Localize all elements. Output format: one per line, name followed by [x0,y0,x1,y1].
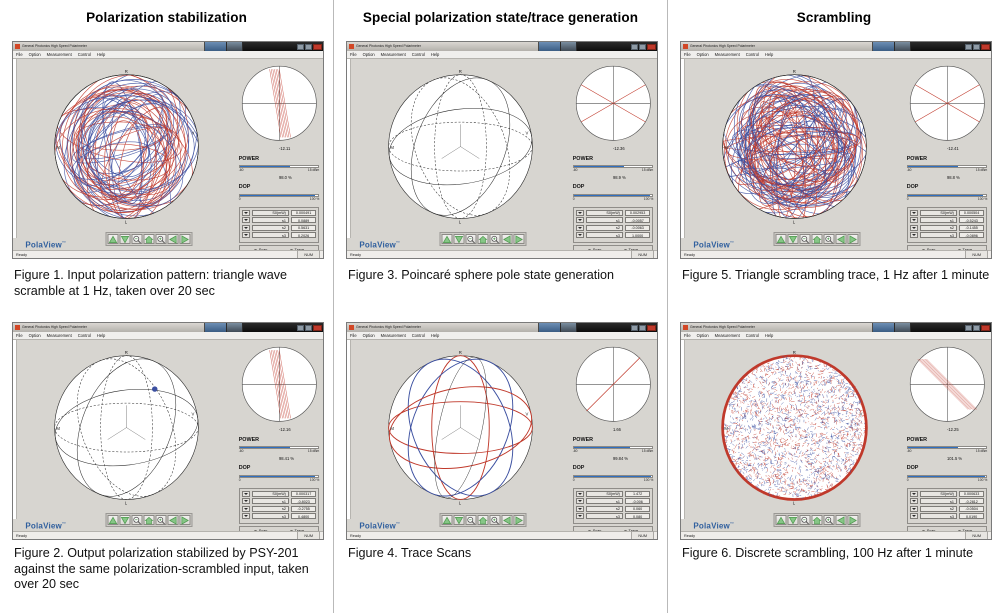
dop-scale: 0 100 % [573,478,654,482]
arrow-left-icon[interactable] [502,234,513,244]
taskbar-thumb-1[interactable] [873,42,895,51]
stokes-row: S0(mW) 0.000633 [910,491,985,497]
stokes-label-3: s3 [586,513,623,519]
poincare-sphere-display[interactable]: R L M V [686,61,903,232]
menu-item-file[interactable]: File [16,332,23,340]
zoom-in-icon[interactable] [490,234,501,244]
power-min: -60 [239,168,244,172]
stokes-label-1: s1 [586,498,623,504]
view-toolbar [440,232,527,246]
arrow-up-icon[interactable] [442,515,453,525]
stokes-value-0: 0.000633 [959,491,984,497]
stokes-select-button-0[interactable] [910,210,918,216]
polaview-logo-text: PolaView [693,241,730,250]
num-lock-indicator: NUM [965,531,988,541]
arrow-left-icon[interactable] [836,515,847,525]
stokes-select-button-2[interactable] [910,506,918,512]
dop-bar [907,194,988,197]
power-meter: POWER 1.66 -60 15 dBm [573,428,654,454]
control-panel: POWER 1.66 -60 15 dBm DOP 99.84 % [573,344,654,523]
arrow-down-icon[interactable] [788,515,799,525]
dop-min: 0 [239,478,241,482]
dop-label: DOP [907,465,919,471]
vertical-scrollbar[interactable] [681,340,685,519]
home-view-icon[interactable] [812,234,823,244]
arrow-up-icon[interactable] [776,234,787,244]
stokes-parameters-panel: S0(mW) 0.000491 s1 0.0889 s2 0.5631 s3 0… [239,207,320,243]
figure-cell-1: General Photonics High Speed Polarimeter… [12,41,324,259]
stokes-select-button-1[interactable] [910,498,918,504]
window-titlebar[interactable]: General Photonics High Speed Polarimeter [347,42,657,51]
stokes-value-1: -0.2812 [959,498,984,504]
power-min: -60 [573,168,578,172]
stokes-select-button-1[interactable] [910,217,918,223]
status-bar: Ready NUM [681,250,991,258]
stokes-value-2: -0.2755 [291,506,316,512]
power-scale: -60 15 dBm [573,168,654,172]
window-titlebar[interactable]: General Photonics High Speed Polarimeter [681,42,991,51]
stokes-label-1: s1 [920,217,957,223]
taskbar-thumb-2[interactable] [895,42,911,51]
meters-group: POWER -12.36 -60 15 dBm DOP 98.9 % [573,147,654,204]
taskbar-thumb-2[interactable] [561,323,577,332]
polaview-logo-text: PolaView [359,522,396,531]
stokes-label-3: s3 [920,232,957,238]
stokes-row: s3 1.0000 [576,232,651,238]
zoom-out-icon[interactable] [800,515,811,525]
poincare-sphere-display[interactable]: R L M V [352,61,569,232]
power-label: POWER [573,437,593,443]
arrow-left-icon[interactable] [168,515,179,525]
polaview-logo: PolaView™ [25,240,66,250]
menu-item-control[interactable]: Control [412,332,425,340]
menu-item-help[interactable]: Help [97,332,105,340]
taskbar-thumb-1[interactable] [205,42,227,51]
stokes-select-button-3[interactable] [576,513,584,519]
arrow-down-icon[interactable] [788,234,799,244]
stokes-row: s2 -0.0504 [910,506,985,512]
power-scale: -60 15 dBm [239,449,320,453]
arrow-right-icon[interactable] [514,515,525,525]
figure-caption-5: Figure 5. Triangle scrambling trace, 1 H… [682,268,990,284]
stokes-select-button-0[interactable] [576,491,584,497]
status-message: Ready [350,251,361,259]
window-buttons [630,44,656,50]
zoom-in-icon[interactable] [156,234,167,244]
menu-bar: FileOptionMeasurementControlHelp [13,51,323,59]
minimize-button[interactable] [965,325,972,331]
power-max: 15 dBm [642,449,653,453]
vertical-scrollbar[interactable] [681,59,685,238]
stokes-label-2: s2 [586,506,623,512]
close-icon[interactable] [981,325,990,331]
home-view-icon[interactable] [478,234,489,244]
dop-value: 98.0 % [279,175,292,180]
window-titlebar[interactable]: General Photonics High Speed Polarimeter [347,323,657,332]
power-min: -60 [573,449,578,453]
power-value: -12.25 [947,427,959,432]
stokes-select-button-0[interactable] [576,210,584,216]
zoom-out-icon[interactable] [132,234,143,244]
polaview-logo: PolaView™ [359,521,400,531]
svg-text:M: M [724,426,728,431]
power-label: POWER [573,156,593,162]
polaview-logo-text: PolaView [359,241,396,250]
dop-min: 0 [907,478,909,482]
dop-meter: DOP 98.41 % 0 100 % [239,456,320,482]
zoom-in-icon[interactable] [156,515,167,525]
home-view-icon[interactable] [812,515,823,525]
menu-bar: FileOptionMeasurementControlHelp [681,332,991,340]
dop-bar-fill [240,195,315,196]
menu-item-measurement[interactable]: Measurement [381,332,406,340]
menu-item-measurement[interactable]: Measurement [715,51,740,59]
menu-item-option[interactable]: Option [29,51,41,59]
stokes-select-button-1[interactable] [576,217,584,223]
poincare-sphere-display[interactable]: R L M V [686,342,903,513]
zoom-in-icon[interactable] [490,515,501,525]
arrow-left-icon[interactable] [836,234,847,244]
arrow-down-icon[interactable] [120,234,131,244]
stokes-value-0: 0.002953 [625,210,650,216]
window-buttons [296,325,322,331]
menu-item-control[interactable]: Control [746,51,759,59]
taskbar-thumb-2[interactable] [227,42,243,51]
view-toolbar [106,232,193,246]
stokes-label-1: s1 [252,217,289,223]
window-titlebar[interactable]: General Photonics High Speed Polarimeter [681,323,991,332]
arrow-left-icon[interactable] [502,515,513,525]
stokes-row: s1 -0.2812 [910,498,985,504]
control-panel: POWER -12.36 -60 15 dBm DOP 98.9 % [573,63,654,242]
stokes-label-2: s2 [920,506,957,512]
dop-bar [907,475,988,478]
taskbar-thumb-1[interactable] [539,42,561,51]
power-meter: POWER -12.16 -60 15 dBm [239,428,320,454]
svg-text:R: R [792,350,795,355]
window-buttons [964,325,990,331]
stokes-select-button-1[interactable] [242,498,250,504]
arrow-left-icon[interactable] [168,234,179,244]
menu-item-help[interactable]: Help [765,51,773,59]
arrow-down-icon[interactable] [454,234,465,244]
dop-label: DOP [239,465,251,471]
dop-max: 100 % [978,197,987,201]
stokes-select-button-1[interactable] [242,217,250,223]
zoom-out-icon[interactable] [466,234,477,244]
arrow-right-icon[interactable] [848,234,859,244]
stokes-select-button-3[interactable] [242,232,250,238]
column-heading-special-states: Special polarization state/trace generat… [334,10,667,25]
workspace: R L M V PolaView™ POWER -12.41 [681,59,991,258]
status-bar: Ready NUM [347,250,657,258]
arrow-up-icon[interactable] [776,515,787,525]
power-bar-fill [908,447,958,448]
power-label: POWER [239,437,259,443]
vertical-scrollbar[interactable] [13,340,17,519]
menu-item-option[interactable]: Option [697,332,709,340]
taskbar-thumb-2[interactable] [895,323,911,332]
maximize-button[interactable] [305,325,312,331]
close-icon[interactable] [647,325,656,331]
stokes-value-3: -0.0896 [959,232,984,238]
stokes-select-button-3[interactable] [242,513,250,519]
stokes-select-button-0[interactable] [910,491,918,497]
stokes-select-button-1[interactable] [576,498,584,504]
menu-item-measurement[interactable]: Measurement [47,332,72,340]
polarization-ellipse-display [907,63,988,144]
app-logo-icon [15,325,20,330]
status-message: Ready [16,251,27,259]
power-label: POWER [907,437,927,443]
trademark-icon: ™ [730,240,734,245]
stokes-value-3: 1.0000 [625,232,650,238]
menu-item-file[interactable]: File [350,51,357,59]
vertical-scrollbar[interactable] [347,340,351,519]
poincare-sphere-display[interactable]: R L M V [18,61,235,232]
window-title-tab[interactable]: General Photonics High Speed Polarimeter [13,323,205,332]
arrow-down-icon[interactable] [120,515,131,525]
power-bar [907,165,988,168]
stokes-select-button-3[interactable] [910,513,918,519]
zoom-in-icon[interactable] [824,234,835,244]
menu-item-option[interactable]: Option [29,332,41,340]
polarization-ellipse-display [907,344,988,425]
vertical-scrollbar[interactable] [347,59,351,238]
minimize-button[interactable] [297,325,304,331]
stokes-row: s3 0.0190 [910,513,985,519]
stokes-value-2: -0.1455 [959,225,984,231]
polaview-window: General Photonics High Speed Polarimeter… [12,41,324,259]
stokes-value-1: -0.0057 [625,217,650,223]
figure-caption-6: Figure 6. Discrete scrambling, 100 Hz af… [682,546,994,562]
menu-item-option[interactable]: Option [363,51,375,59]
stokes-parameters-panel: S0(mW) 0.000317 s1 -0.8023 s2 -0.2755 s3… [239,488,320,524]
menu-item-help[interactable]: Help [97,51,105,59]
arrow-right-icon[interactable] [180,234,191,244]
control-panel: POWER -12.41 -60 15 dBm DOP 98.8 % [907,63,988,242]
poincare-sphere-display[interactable]: R L M V [18,342,235,513]
power-scale: -60 15 dBm [239,168,320,172]
figure-cell-5: General Photonics High Speed Polarimeter… [680,41,992,259]
vertical-scrollbar[interactable] [13,59,17,238]
dop-min: 0 [573,478,575,482]
stokes-label-3: s3 [252,513,289,519]
close-icon[interactable] [647,44,656,50]
stokes-label-0: S0(mW) [252,491,289,497]
window-title-tab[interactable]: General Photonics High Speed Polarimeter [681,323,873,332]
poincare-sphere-display[interactable]: R L M V [352,342,569,513]
dop-min: 0 [907,197,909,201]
maximize-button[interactable] [305,44,312,50]
stokes-value-3: 0.0190 [959,513,984,519]
num-lock-indicator: NUM [297,531,320,541]
meters-group: POWER -12.25 -60 15 dBm DOP 101.5 % [907,428,988,485]
dop-value: 98.9 % [613,175,626,180]
trademark-icon: ™ [730,521,734,526]
stokes-value-3: 0.2026 [291,232,316,238]
taskbar-thumb-1[interactable] [539,323,561,332]
meters-group: POWER 1.66 -60 15 dBm DOP 99.84 % [573,428,654,485]
window-title-tab[interactable]: General Photonics High Speed Polarimeter [13,42,205,51]
window-buttons [296,44,322,50]
stokes-row: s2 -0.0063 [576,225,651,231]
dop-value: 101.5 % [947,456,962,461]
minimize-button[interactable] [631,325,638,331]
polaview-window: General Photonics High Speed Polarimeter… [346,41,658,259]
stokes-parameters-panel: S0(mW) 0.002953 s1 -0.0057 s2 -0.0063 s3… [573,207,654,243]
menu-item-measurement[interactable]: Measurement [381,51,406,59]
maximize-button[interactable] [973,325,980,331]
stokes-select-button-2[interactable] [242,225,250,231]
zoom-out-icon[interactable] [132,515,143,525]
menu-item-measurement[interactable]: Measurement [715,332,740,340]
polaview-logo: PolaView™ [25,521,66,531]
dop-meter: DOP 101.5 % 0 100 % [907,456,988,482]
dop-scale: 0 100 % [907,197,988,201]
window-title: General Photonics High Speed Polarimeter [690,323,755,332]
svg-text:R: R [124,350,127,355]
arrow-up-icon[interactable] [108,234,119,244]
power-bar-fill [574,447,631,448]
stokes-value-1: -0.8023 [291,498,316,504]
stokes-label-2: s2 [252,506,289,512]
dop-max: 100 % [310,478,319,482]
close-icon[interactable] [981,44,990,50]
power-bar-fill [574,166,624,167]
menu-bar: FileOptionMeasurementControlHelp [347,332,657,340]
svg-text:M: M [390,426,394,431]
view-toolbar [106,513,193,527]
stokes-select-button-2[interactable] [576,225,584,231]
dop-bar-fill [574,195,650,196]
menu-bar: FileOptionMeasurementControlHelp [13,332,323,340]
maximize-button[interactable] [639,325,646,331]
menu-item-option[interactable]: Option [363,332,375,340]
arrow-right-icon[interactable] [848,515,859,525]
polarization-ellipse-display [239,344,320,425]
num-lock-indicator: NUM [631,250,654,260]
control-panel: POWER -12.16 -60 15 dBm DOP 98.41 % [239,344,320,523]
window-title-tab[interactable]: General Photonics High Speed Polarimeter [347,323,539,332]
arrow-up-icon[interactable] [442,234,453,244]
polaview-window: General Photonics High Speed Polarimeter… [346,322,658,540]
window-titlebar[interactable]: General Photonics High Speed Polarimeter [13,42,323,51]
power-meter: POWER -12.11 -60 15 dBm [239,147,320,173]
figure-cell-6: General Photonics High Speed Polarimeter… [680,322,992,540]
menu-item-help[interactable]: Help [765,332,773,340]
workspace: R L M V PolaView™ POWER -12.36 [347,59,657,258]
zoom-out-icon[interactable] [466,515,477,525]
menu-item-control[interactable]: Control [412,51,425,59]
app-logo-icon [683,44,688,49]
menu-item-control[interactable]: Control [78,51,91,59]
minimize-button[interactable] [631,44,638,50]
menu-item-control[interactable]: Control [78,332,91,340]
dop-value: 98.41 % [279,456,294,461]
svg-text:V: V [525,412,528,417]
stokes-select-button-2[interactable] [910,225,918,231]
stokes-label-1: s1 [586,217,623,223]
dop-bar [239,475,320,478]
polarization-ellipse-display [239,63,320,144]
maximize-button[interactable] [973,44,980,50]
dop-scale: 0 100 % [907,478,988,482]
stokes-select-button-0[interactable] [242,491,250,497]
menu-item-file[interactable]: File [16,51,23,59]
menu-item-measurement[interactable]: Measurement [47,51,72,59]
power-max: 15 dBm [308,449,319,453]
minimize-button[interactable] [297,44,304,50]
figure-caption-3: Figure 3. Poincaré sphere pole state gen… [348,268,660,284]
svg-text:M: M [56,426,60,431]
stokes-label-1: s1 [252,498,289,504]
taskbar-thumb-1[interactable] [873,323,895,332]
close-icon[interactable] [313,44,322,50]
stokes-select-button-3[interactable] [910,232,918,238]
stokes-select-button-2[interactable] [576,506,584,512]
zoom-in-icon[interactable] [824,515,835,525]
arrow-down-icon[interactable] [454,515,465,525]
arrow-up-icon[interactable] [108,515,119,525]
menu-item-option[interactable]: Option [697,51,709,59]
window-titlebar[interactable]: General Photonics High Speed Polarimeter [13,323,323,332]
taskbar-thumb-2[interactable] [227,323,243,332]
menu-item-file[interactable]: File [684,51,691,59]
power-label: POWER [907,156,927,162]
stokes-label-1: s1 [920,498,957,504]
view-toolbar [774,232,861,246]
svg-text:V: V [191,412,194,417]
polarization-ellipse-display [573,63,654,144]
power-label: POWER [239,156,259,162]
home-view-icon[interactable] [144,515,155,525]
taskbar-thumb-1[interactable] [205,323,227,332]
arrow-right-icon[interactable] [180,515,191,525]
menu-item-help[interactable]: Help [431,51,439,59]
menu-item-file[interactable]: File [350,332,357,340]
home-view-icon[interactable] [478,515,489,525]
taskbar-thumb-2[interactable] [561,42,577,51]
zoom-out-icon[interactable] [800,234,811,244]
svg-text:R: R [792,69,795,74]
window-title-tab[interactable]: General Photonics High Speed Polarimeter [681,42,873,51]
home-view-icon[interactable] [144,234,155,244]
trademark-icon: ™ [396,521,400,526]
stokes-select-button-2[interactable] [242,506,250,512]
menu-item-help[interactable]: Help [431,332,439,340]
svg-text:M: M [56,145,60,150]
maximize-button[interactable] [639,44,646,50]
minimize-button[interactable] [965,44,972,50]
dop-max: 100 % [978,478,987,482]
stokes-select-button-3[interactable] [576,232,584,238]
power-value: 1.66 [613,427,621,432]
close-icon[interactable] [313,325,322,331]
power-bar [239,446,320,449]
menu-item-file[interactable]: File [684,332,691,340]
stokes-select-button-0[interactable] [242,210,250,216]
menu-item-control[interactable]: Control [746,332,759,340]
meters-group: POWER -12.41 -60 15 dBm DOP 98.8 % [907,147,988,204]
power-bar-fill [240,447,290,448]
arrow-right-icon[interactable] [514,234,525,244]
stokes-row: s3 0.080 [576,513,651,519]
figure-caption-1: Figure 1. Input polarization pattern: tr… [14,268,326,299]
column-heading-scrambling: Scrambling [668,10,1000,25]
window-title-tab[interactable]: General Photonics High Speed Polarimeter [347,42,539,51]
svg-text:R: R [124,69,127,74]
